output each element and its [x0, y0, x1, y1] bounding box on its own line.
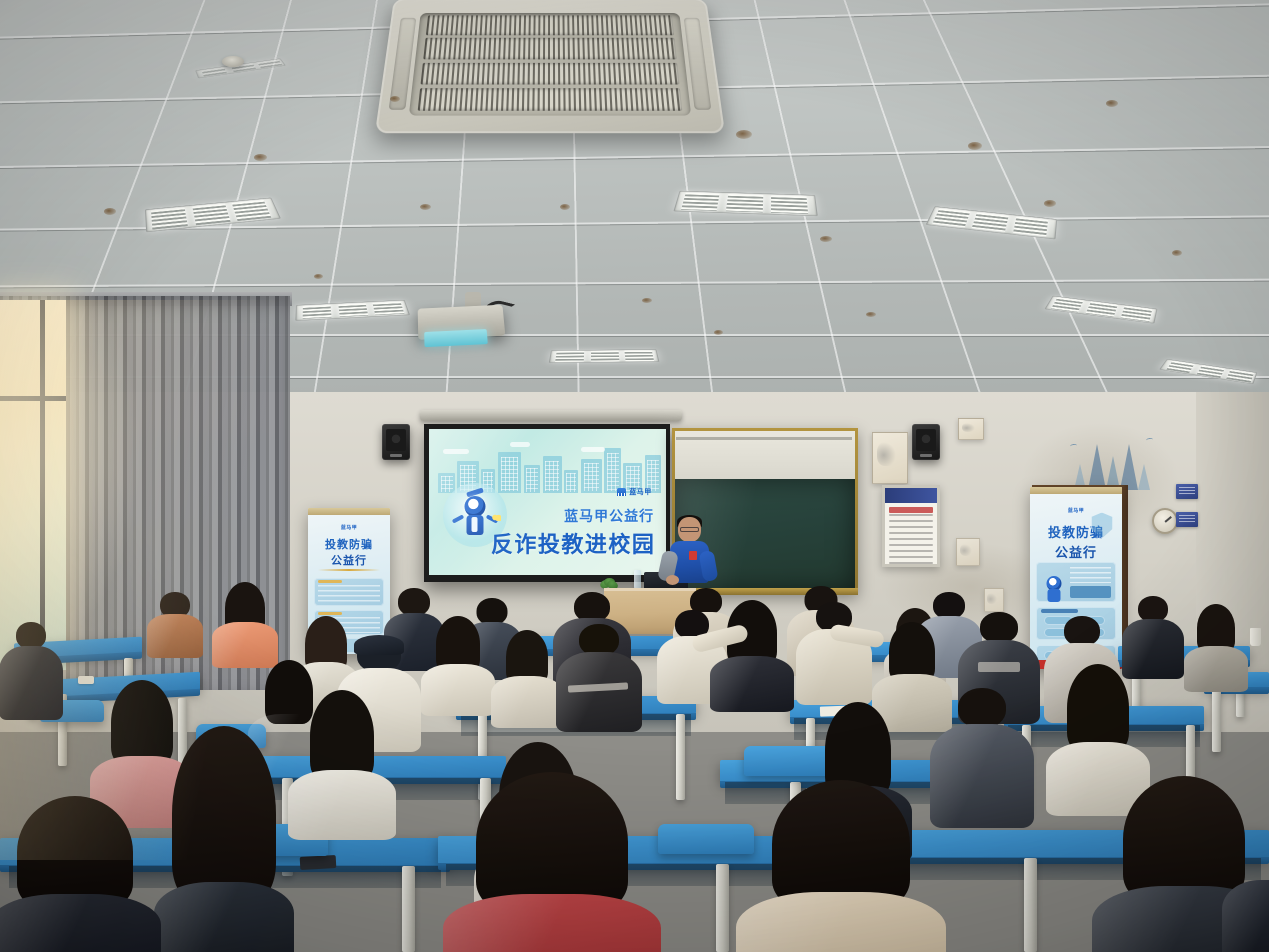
banner-title-line2: 公益行 [1030, 542, 1122, 561]
brand-glyph-icon [617, 488, 626, 496]
banner-mascot [1043, 576, 1065, 602]
student [0, 796, 150, 952]
banner-title-line1: 投教防骗 [308, 536, 390, 552]
classroom-window [0, 300, 66, 670]
slide-cloud [581, 447, 605, 452]
hoodie-text [978, 662, 1020, 672]
poster-title-band [889, 507, 933, 513]
student [452, 772, 652, 952]
ceiling-stain [104, 208, 116, 215]
slide-cloud [510, 442, 530, 447]
student-chair [658, 824, 754, 854]
paper-cup [1250, 628, 1261, 646]
water-bottle [634, 570, 641, 590]
slide-headline: 蓝马甲公益行 [564, 506, 654, 526]
student [714, 600, 790, 708]
slide-brand-logo: 蓝马甲 [617, 487, 652, 497]
ceiling-smoke-detector [222, 56, 244, 67]
classroom-photo-scene: 蓝马甲 蓝马甲公益行 反诈投教进校园 [0, 0, 1269, 952]
poster-header-band [885, 488, 937, 503]
poster-text-lines [889, 514, 933, 567]
ceiling-stain [820, 236, 832, 242]
wall-speaker [382, 424, 410, 460]
ceiling-stain [254, 154, 267, 161]
desk-object-phone [300, 855, 337, 870]
student [746, 780, 936, 952]
desk-leg [1212, 688, 1221, 752]
ceiling-stain [968, 142, 982, 150]
wall-clock [1152, 508, 1178, 534]
cassette-air-conditioner [375, 0, 725, 133]
student [424, 616, 492, 712]
wall-mini-sign [1176, 484, 1198, 499]
blue-vest-robot-mascot [461, 496, 489, 536]
banner-divider [318, 569, 380, 571]
ceiling-projector [418, 305, 506, 340]
ceiling-stain [642, 298, 652, 303]
presenter-in-blue-vest [656, 517, 718, 595]
ceiling-stain [714, 330, 723, 335]
ceiling-stain [1106, 100, 1118, 107]
student [936, 688, 1028, 824]
ceiling-stain [314, 274, 323, 279]
blue-forest-wall-decal [1068, 432, 1156, 490]
desk-leg [716, 864, 729, 952]
wall-speaker [912, 424, 940, 460]
banner-title-line2: 公益行 [308, 552, 390, 568]
ink-painting-scroll [956, 538, 980, 566]
student [148, 592, 202, 654]
presenter-badge [689, 551, 697, 560]
ceiling-stain [560, 204, 570, 210]
ink-painting-scroll [984, 588, 1004, 612]
banner-logo: 蓝马甲 [341, 524, 357, 531]
ceiling-light-fixture [549, 349, 660, 363]
desk-leg [402, 866, 415, 952]
student [1186, 604, 1246, 686]
blackboard-slide-rail [676, 437, 852, 440]
wall-mini-sign [1176, 512, 1198, 527]
ink-painting-scroll [872, 432, 908, 484]
banner-hero-card [1036, 562, 1115, 602]
presenter-hand [666, 575, 679, 585]
ceiling-stain [1172, 250, 1182, 256]
slide-subheadline: 反诈投教进校园 [491, 527, 656, 559]
bird-icon [1070, 444, 1077, 449]
framed-notice-poster [882, 485, 940, 567]
banner-top-bar [1030, 487, 1122, 494]
banner-top-bar [308, 508, 390, 515]
banner-logo: 蓝马甲 [1068, 507, 1084, 514]
student [214, 582, 276, 656]
desk-leg [1024, 858, 1037, 952]
student [494, 630, 560, 722]
slide-cloud [443, 449, 469, 454]
ceiling-stain [1044, 200, 1056, 207]
student [800, 602, 868, 702]
projection-screen-roller [420, 410, 682, 421]
ceiling-stain [390, 96, 400, 102]
desk-object-eraser [78, 676, 94, 684]
ceiling-stain [866, 312, 876, 317]
presenter-glasses [680, 527, 699, 532]
ink-painting-scroll [958, 418, 984, 440]
projection-screen: 蓝马甲 蓝马甲公益行 反诈投教进校园 [424, 424, 670, 582]
student-cap [354, 635, 404, 655]
desk-leg [676, 714, 685, 800]
student [0, 622, 62, 718]
student [294, 690, 390, 830]
student [1230, 880, 1269, 952]
ceiling-stain [420, 204, 431, 210]
student [164, 726, 284, 952]
banner-card [314, 578, 385, 606]
student [560, 624, 638, 728]
slide-brand-label: 蓝马甲 [629, 487, 652, 497]
projector-lens [424, 329, 488, 347]
bird-icon [1146, 438, 1153, 443]
ceiling-stain [736, 130, 752, 139]
